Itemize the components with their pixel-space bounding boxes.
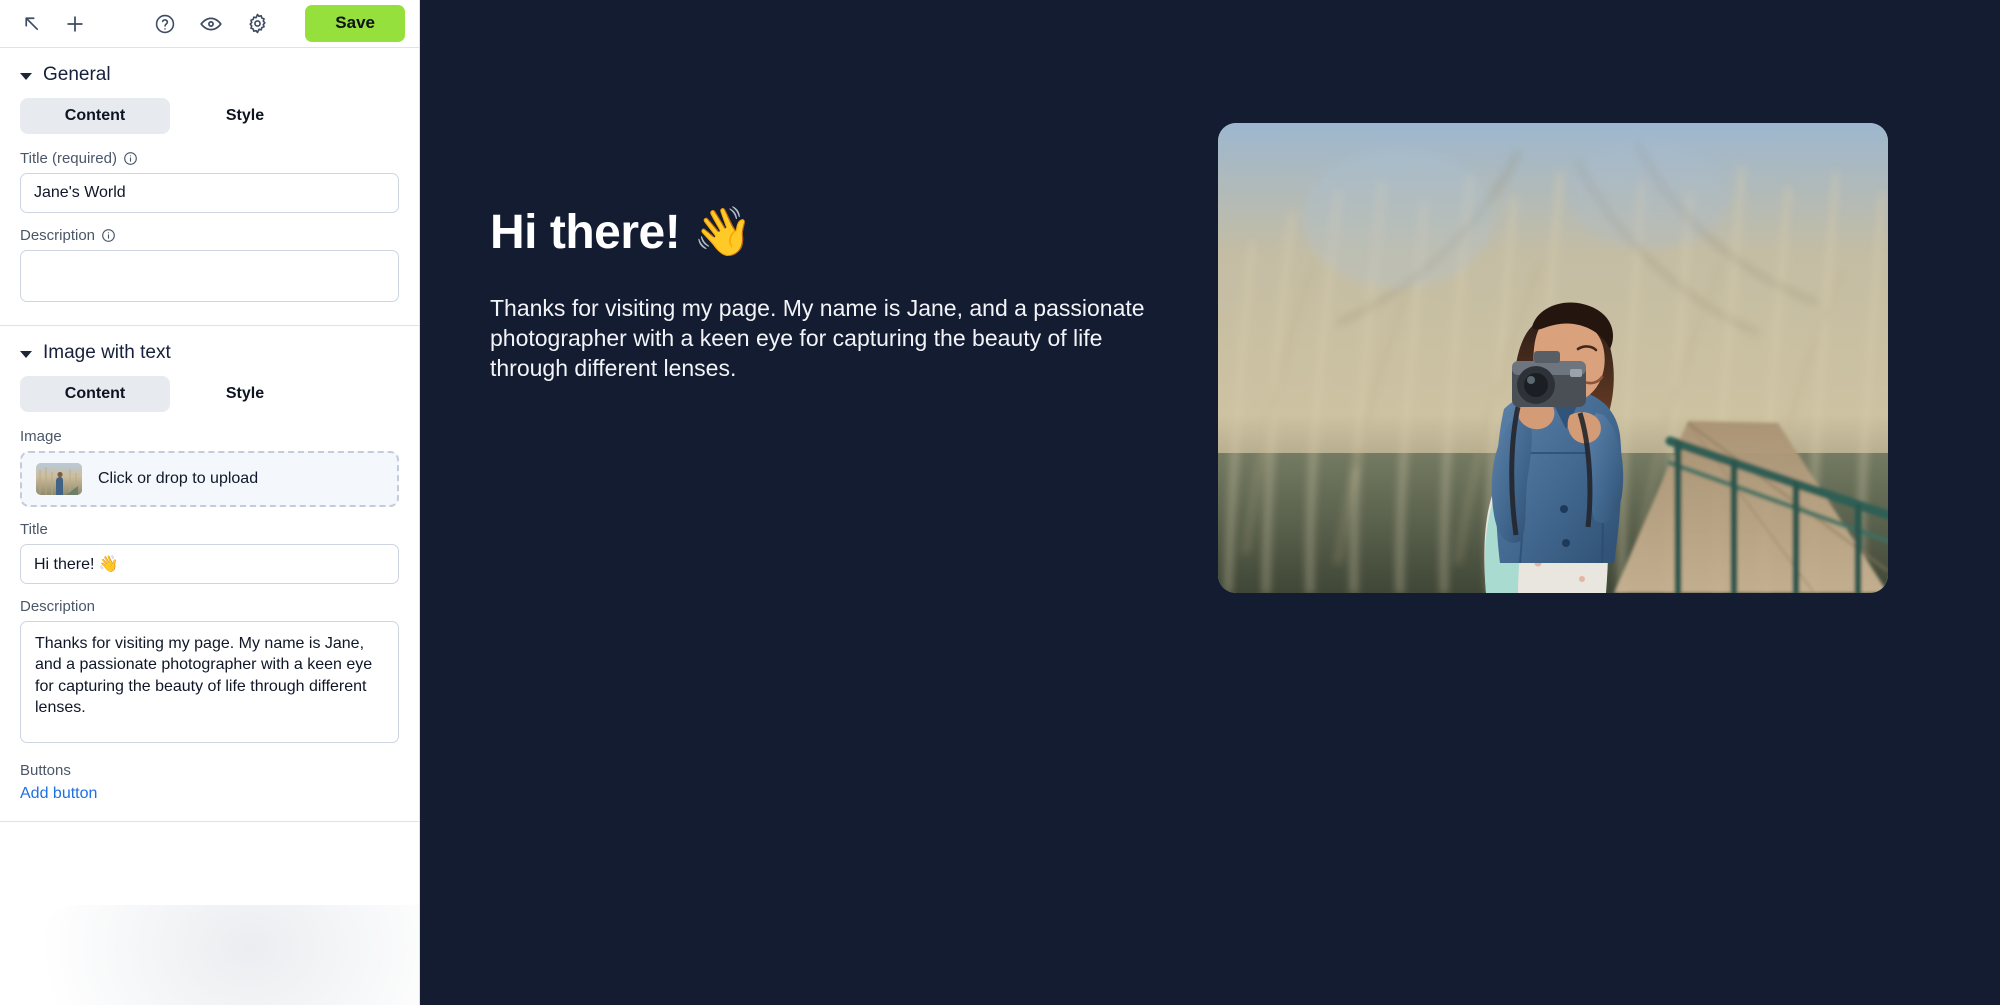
plus-icon[interactable] — [62, 11, 88, 37]
image-description-textarea[interactable] — [20, 621, 399, 743]
field-general-description: Description — [20, 227, 399, 307]
label-buttons-wrap: Buttons — [20, 762, 399, 779]
label-buttons: Buttons — [20, 762, 71, 779]
section-image-tabs: Content Style — [20, 376, 399, 412]
editor-toolbar: Save — [0, 0, 419, 47]
label-general-description-wrap: Description — [20, 227, 399, 244]
preview-canvas: Hi there! 👋 Thanks for visiting my page.… — [420, 0, 2000, 1005]
preview-body-text: Thanks for visiting my page. My name is … — [490, 294, 1170, 384]
section-general: General Content Style Title (required) — [0, 48, 419, 326]
field-image-description: Description — [20, 598, 399, 748]
label-general-title-wrap: Title (required) — [20, 150, 399, 167]
label-general-description: Description — [20, 227, 95, 244]
gear-icon[interactable] — [244, 11, 270, 37]
sidebar-shadow-decoration — [39, 905, 420, 1005]
tab-image-content[interactable]: Content — [20, 376, 170, 412]
image-dropzone[interactable]: Click or drop to upload — [20, 451, 399, 507]
section-general-header[interactable]: General — [20, 64, 399, 86]
help-circle-icon[interactable] — [152, 11, 178, 37]
preview-photo — [1218, 123, 1888, 593]
label-image-description-wrap: Description — [20, 598, 399, 615]
chevron-down-icon[interactable] — [20, 351, 32, 358]
field-buttons: Buttons Add button — [20, 762, 399, 803]
field-general-title: Title (required) — [20, 150, 399, 213]
add-button-link[interactable]: Add button — [20, 785, 97, 803]
label-image-title-wrap: Title — [20, 521, 399, 538]
tab-image-style[interactable]: Style — [170, 376, 320, 412]
field-image-title: Title — [20, 521, 399, 584]
cursor-arrow-icon[interactable] — [18, 11, 44, 37]
image-dropzone-label: Click or drop to upload — [98, 470, 258, 488]
preview-text-column: Hi there! 👋 Thanks for visiting my page.… — [490, 123, 1170, 384]
save-button[interactable]: Save — [305, 5, 405, 42]
section-image-with-text-header[interactable]: Image with text — [20, 342, 399, 364]
general-description-textarea[interactable] — [20, 250, 399, 302]
label-image-title: Title — [20, 521, 48, 538]
section-image-with-text: Image with text Content Style Image — [0, 326, 419, 822]
label-image-description: Description — [20, 598, 95, 615]
info-icon[interactable] — [101, 228, 116, 243]
general-title-input[interactable] — [20, 173, 399, 213]
chevron-down-icon[interactable] — [20, 73, 32, 80]
section-image-with-text-title: Image with text — [43, 342, 171, 364]
preview-heading: Hi there! 👋 — [490, 208, 1170, 258]
info-icon[interactable] — [123, 151, 138, 166]
field-image-upload: Image — [20, 428, 399, 507]
label-image: Image — [20, 428, 62, 445]
label-image-wrap: Image — [20, 428, 399, 445]
image-thumbnail — [36, 463, 82, 495]
section-general-tabs: Content Style — [20, 98, 399, 134]
editor-sidebar: Save General Content Style Title (requir… — [0, 0, 420, 1005]
section-general-title: General — [43, 64, 111, 86]
image-title-input[interactable] — [20, 544, 399, 584]
eye-icon[interactable] — [198, 11, 224, 37]
tab-general-style[interactable]: Style — [170, 98, 320, 134]
label-general-title: Title (required) — [20, 150, 117, 167]
preview-image-with-text-block: Hi there! 👋 Thanks for visiting my page.… — [420, 0, 2000, 593]
tab-general-content[interactable]: Content — [20, 98, 170, 134]
